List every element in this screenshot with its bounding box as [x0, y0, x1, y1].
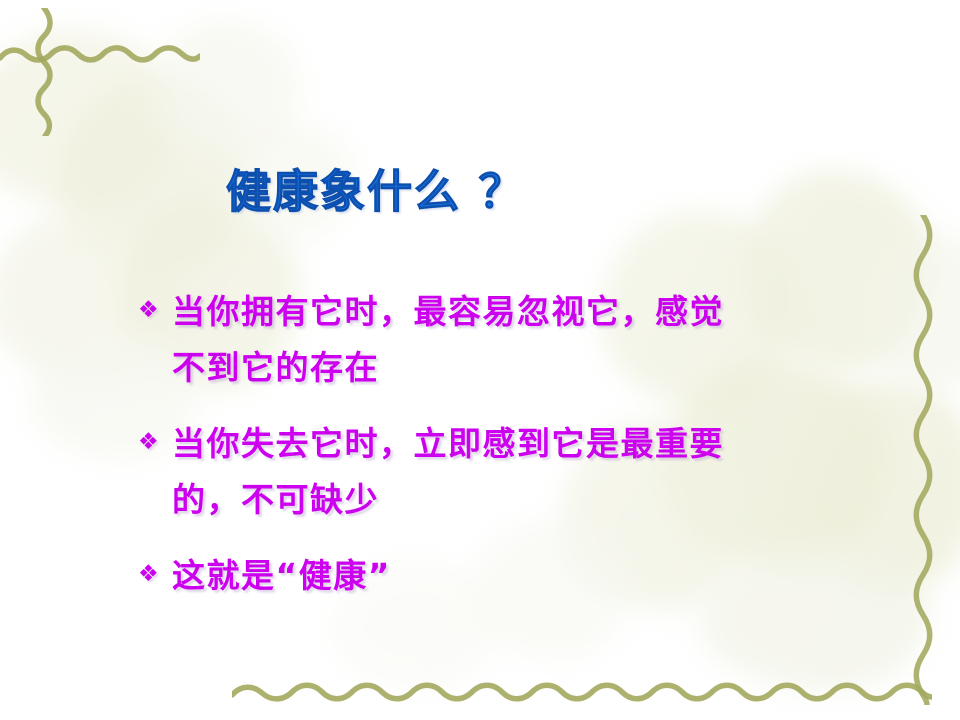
wavy-vine-right-vertical-icon	[908, 215, 938, 705]
wavy-vine-top-vertical-icon	[30, 8, 58, 136]
bullet-text: 这就是“健康”	[172, 548, 878, 604]
wavy-vine-bottom-horizontal-icon	[232, 678, 932, 706]
bullet-text: 当你失去它时，立即感到它是最重要 的，不可缺少	[172, 416, 878, 528]
bullet-item: ❖ 当你拥有它时，最容易忽视它，感觉 不到它的存在	[138, 284, 878, 396]
slide-title: 健康象什么 ？	[226, 168, 526, 215]
bullet-diamond-icon: ❖	[138, 548, 172, 600]
bullet-text: 当你拥有它时，最容易忽视它，感觉 不到它的存在	[172, 284, 878, 396]
presentation-slide: 健康象什么 ？ ❖ 当你拥有它时，最容易忽视它，感觉 不到它的存在 ❖ 当你失去…	[0, 0, 960, 720]
wavy-vine-top-horizontal-icon	[0, 40, 200, 68]
bullet-diamond-icon: ❖	[138, 416, 172, 468]
bullet-item: ❖ 当你失去它时，立即感到它是最重要 的，不可缺少	[138, 416, 878, 528]
slide-body-bullet-list: ❖ 当你拥有它时，最容易忽视它，感觉 不到它的存在 ❖ 当你失去它时，立即感到它…	[138, 284, 878, 604]
bullet-diamond-icon: ❖	[138, 284, 172, 336]
bullet-item: ❖ 这就是“健康”	[138, 548, 878, 604]
